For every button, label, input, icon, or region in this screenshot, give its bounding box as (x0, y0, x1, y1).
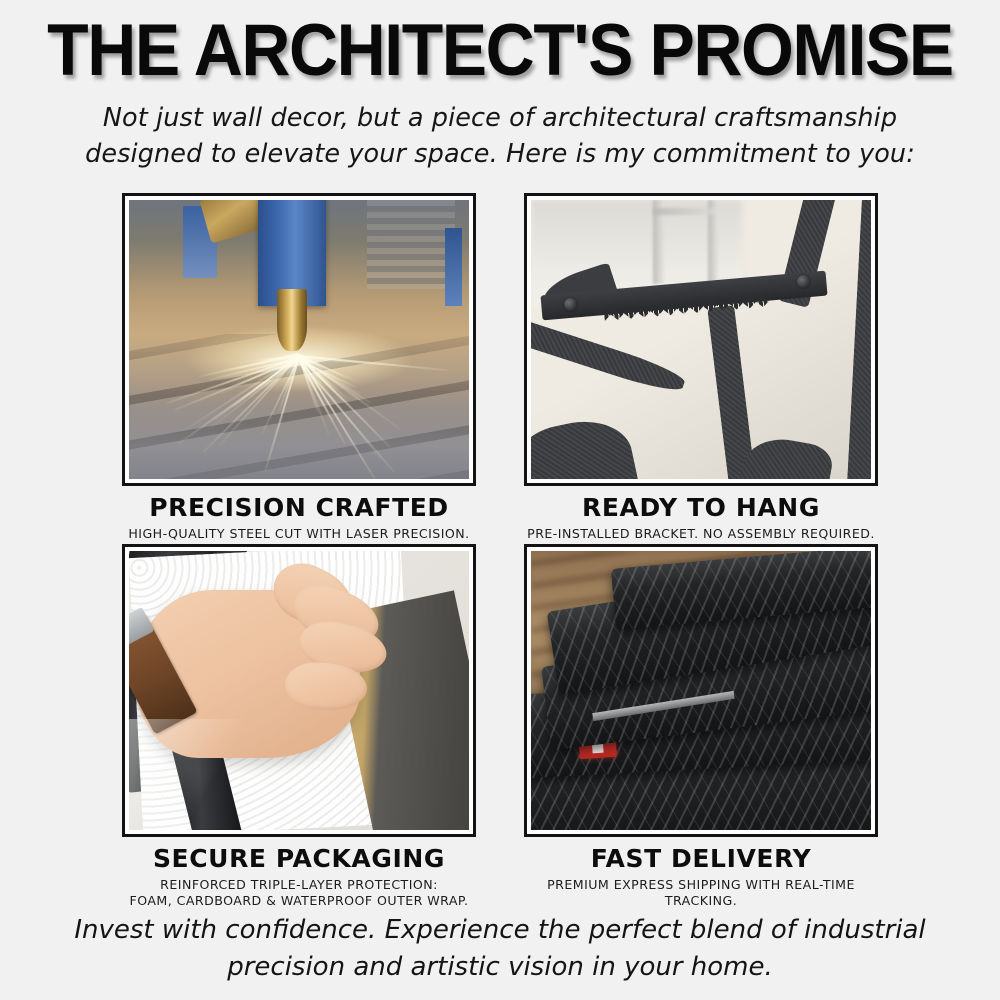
card-subtitle-line: REINFORCED TRIPLE-LAYER PROTECTION: (130, 877, 469, 894)
card-subtitle-ready-to-hang: PRE-INSTALLED BRACKET. NO ASSEMBLY REQUI… (527, 526, 875, 543)
card-subtitle-fast-delivery: PREMIUM EXPRESS SHIPPING WITH REAL-TIME … (524, 877, 878, 910)
photo-frame-ready-to-hang (524, 193, 878, 486)
art-branch-right-edge (845, 200, 871, 479)
card-subtitle-line: PRE-INSTALLED BRACKET. NO ASSEMBLY REQUI… (527, 526, 875, 543)
bracket-screw-right (797, 275, 810, 288)
caption-secure-packaging: SECURE PACKAGING REINFORCED TRIPLE-LAYER… (130, 837, 469, 910)
promise-infographic: THE ARCHITECT'S PROMISE Not just wall de… (0, 0, 1000, 1000)
card-title-precision-crafted: PRECISION CRAFTED (128, 494, 469, 522)
photo-frame-secure-packaging (122, 544, 476, 837)
art-branch-lower-right (737, 433, 836, 479)
card-title-fast-delivery: FAST DELIVERY (524, 845, 878, 873)
card-subtitle-secure-packaging: REINFORCED TRIPLE-LAYER PROTECTION: FOAM… (130, 877, 469, 910)
feature-card-fast-delivery: FAST DELIVERY PREMIUM EXPRESS SHIPPING W… (524, 544, 878, 910)
feature-card-precision-crafted: PRECISION CRAFTED HIGH-QUALITY STEEL CUT… (122, 193, 476, 542)
hanging-bracket-photo (531, 200, 871, 479)
header: THE ARCHITECT'S PROMISE Not just wall de… (0, 0, 1000, 172)
header-subtitle: Not just wall decor, but a piece of arch… (60, 101, 940, 171)
card-title-secure-packaging: SECURE PACKAGING (130, 845, 469, 873)
bracket-screw-left (564, 298, 577, 311)
card-subtitle-line: HIGH-QUALITY STEEL CUT WITH LASER PRECIS… (128, 526, 469, 543)
feature-card-secure-packaging: SECURE PACKAGING REINFORCED TRIPLE-LAYER… (122, 544, 476, 910)
caption-precision-crafted: PRECISION CRAFTED HIGH-QUALITY STEEL CUT… (128, 486, 469, 542)
shipping-stack-photo (531, 551, 871, 830)
header-subtitle-line-2: designed to elevate your space. Here is … (60, 137, 940, 172)
feature-card-ready-to-hang: READY TO HANG PRE-INSTALLED BRACKET. NO … (524, 193, 878, 542)
packaging-photo (129, 551, 469, 830)
footer-line-1: Invest with confidence. Experience the p… (50, 912, 950, 949)
card-subtitle-line: PREMIUM EXPRESS SHIPPING WITH REAL-TIME … (524, 877, 878, 910)
laser-cutting-photo (129, 200, 469, 479)
plastic-wrap-gloss (129, 719, 265, 831)
header-subtitle-line-1: Not just wall decor, but a piece of arch… (60, 101, 940, 136)
stool-rail (653, 208, 721, 215)
page-title: THE ARCHITECT'S PROMISE (35, 16, 965, 85)
machine-grate (367, 200, 455, 289)
feature-grid: PRECISION CRAFTED HIGH-QUALITY STEEL CUT… (0, 193, 1000, 910)
card-subtitle-line: FOAM, CARDBOARD & WATERPROOF OUTER WRAP. (130, 893, 469, 910)
caption-ready-to-hang: READY TO HANG PRE-INSTALLED BRACKET. NO … (527, 486, 875, 542)
card-subtitle-precision-crafted: HIGH-QUALITY STEEL CUT WITH LASER PRECIS… (128, 526, 469, 543)
sawtooth-bracket (541, 270, 827, 331)
footer-text: Invest with confidence. Experience the p… (50, 912, 950, 986)
photo-frame-fast-delivery (524, 544, 878, 837)
caption-fast-delivery: FAST DELIVERY PREMIUM EXPRESS SHIPPING W… (524, 837, 878, 910)
footer-line-2: precision and artistic vision in your ho… (50, 949, 950, 986)
photo-frame-precision-crafted (122, 193, 476, 486)
card-title-ready-to-hang: READY TO HANG (527, 494, 875, 522)
footer: Invest with confidence. Experience the p… (0, 912, 1000, 986)
machine-post (445, 228, 462, 306)
art-branch-lower-left (531, 412, 640, 479)
